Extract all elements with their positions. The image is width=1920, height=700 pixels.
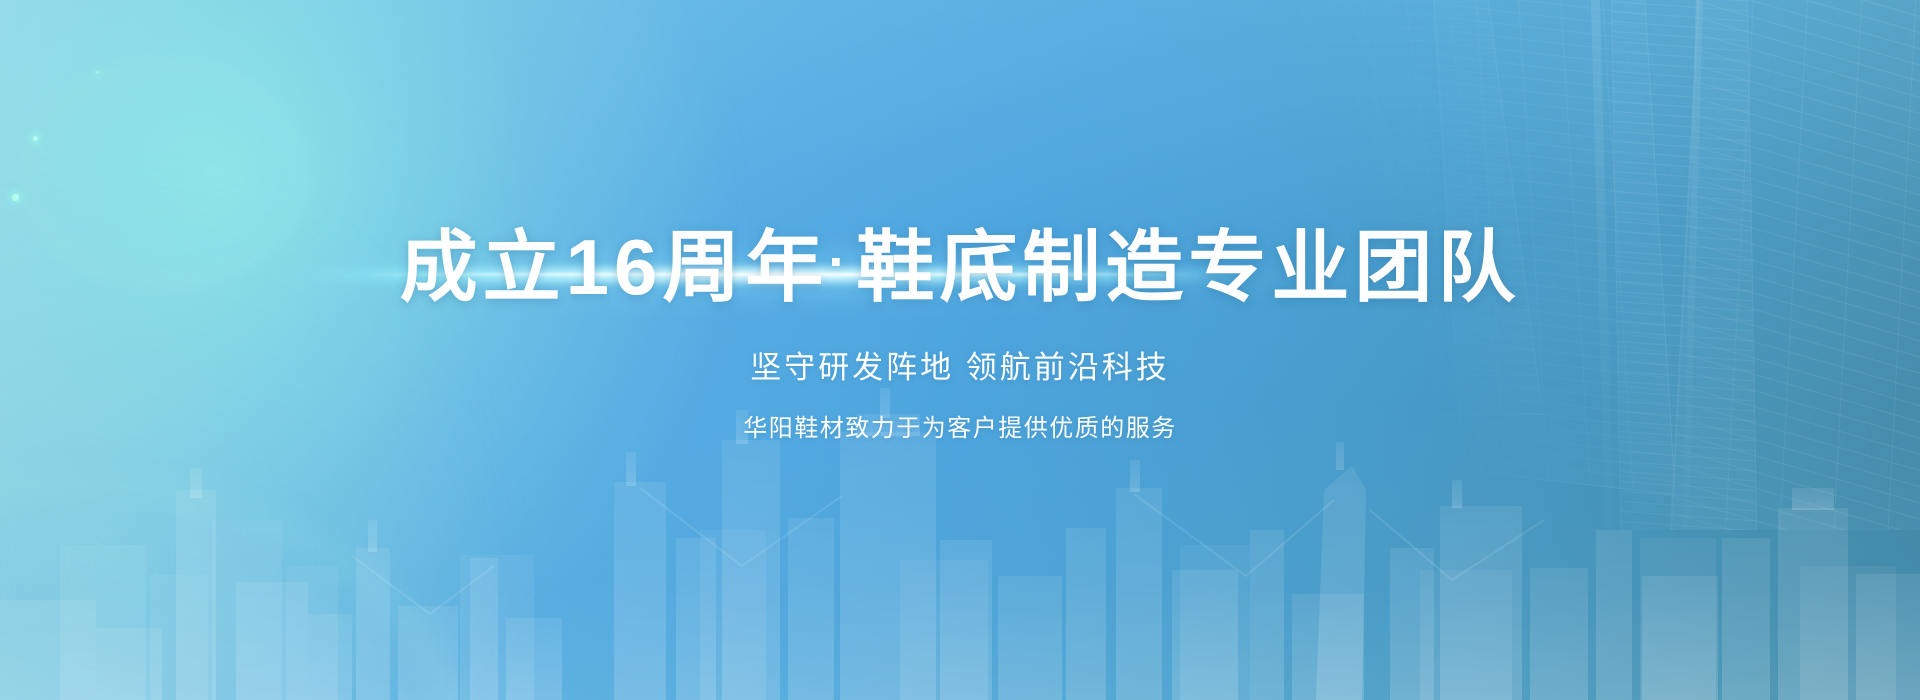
- hero-banner: 成立16周年·鞋底制造专业团队 坚守研发阵地 领航前沿科技 华阳鞋材致力于为客户…: [0, 0, 1920, 700]
- banner-content: 成立16周年·鞋底制造专业团队 坚守研发阵地 领航前沿科技 华阳鞋材致力于为客户…: [0, 0, 1920, 700]
- banner-headline: 成立16周年·鞋底制造专业团队: [400, 228, 1521, 306]
- headline-separator: ·: [828, 232, 856, 292]
- banner-subline: 坚守研发阵地 领航前沿科技: [750, 342, 1170, 387]
- banner-tagline: 华阳鞋材致力于为客户提供优质的服务: [743, 408, 1177, 443]
- headline-prefix: 成立16周年: [400, 223, 829, 311]
- headline-suffix: 鞋底制造专业团队: [856, 223, 1520, 311]
